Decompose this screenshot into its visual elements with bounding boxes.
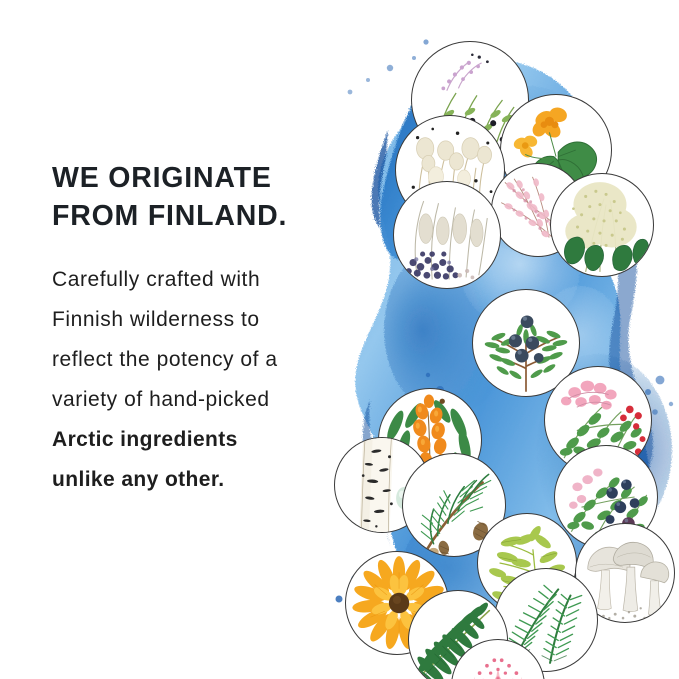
body-line-3: reflect the potency of a (52, 340, 372, 380)
body-copy: Carefully crafted with Finnish wildernes… (52, 260, 372, 500)
cloudberry-bloom-small (512, 134, 538, 160)
body-line-6: unlike any other. (52, 460, 372, 500)
poster-canvas: WE ORIGINATE FROM FINLAND. Carefully cra… (0, 0, 679, 679)
body-line-4: variety of hand-picked (52, 380, 372, 420)
body-line-5: Arctic ingredients (52, 420, 372, 460)
page-title: WE ORIGINATE FROM FINLAND. (52, 160, 372, 236)
finland-map-illustration (330, 20, 679, 679)
ingredient-circle-bilberry-bush[interactable] (393, 181, 501, 289)
body-line-1: Carefully crafted with (52, 260, 372, 300)
body-line-2: Finnish wilderness to (52, 300, 372, 340)
ingredient-circle-meadowsweet[interactable] (550, 173, 654, 277)
cloudberry-bloom-large (530, 106, 569, 141)
text-panel: WE ORIGINATE FROM FINLAND. Carefully cra… (52, 160, 372, 500)
